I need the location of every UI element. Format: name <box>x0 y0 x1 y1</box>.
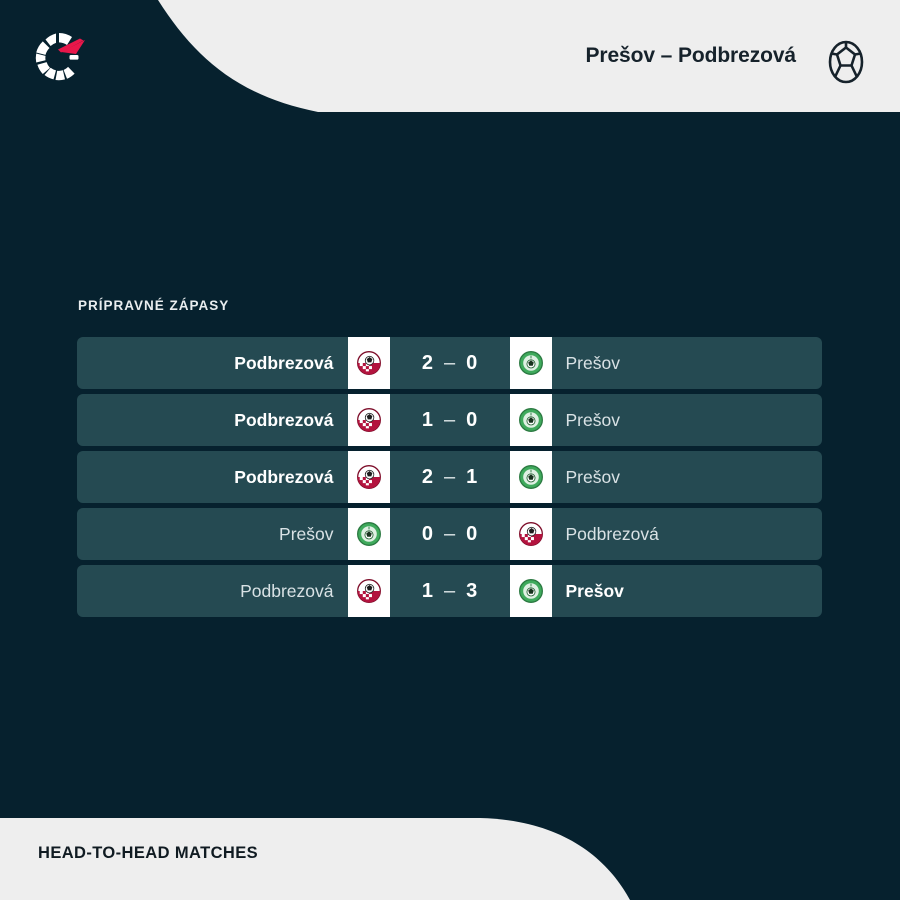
presov-crest-icon <box>348 508 390 560</box>
football-icon <box>822 38 870 86</box>
home-team-name: Podbrezová <box>77 451 348 503</box>
home-score: 0 <box>422 523 433 546</box>
away-team-name: Podbrezová <box>552 508 823 560</box>
page-title: Prešov – Podbrezová <box>585 44 796 68</box>
match-score: 2–0 <box>390 337 510 389</box>
away-score: 0 <box>466 352 477 375</box>
score-separator: – <box>444 409 455 432</box>
home-score: 1 <box>422 409 433 432</box>
away-score: 0 <box>466 523 477 546</box>
away-team-name: Prešov <box>552 565 823 617</box>
home-score: 2 <box>422 352 433 375</box>
podbrezova-crest-icon <box>348 337 390 389</box>
away-team-name: Prešov <box>552 451 823 503</box>
away-score: 1 <box>466 466 477 489</box>
head-to-head-match-list: Podbrezová2–0PrešovPodbrezová1–0PrešovPo… <box>77 337 822 622</box>
screenshot-root: Prešov – Podbrezová PRÍPRAVNÉ ZÁPASY Pod… <box>0 0 900 900</box>
presov-crest-icon <box>510 451 552 503</box>
match-score: 1–3 <box>390 565 510 617</box>
match-score: 1–0 <box>390 394 510 446</box>
away-team-name: Prešov <box>552 394 823 446</box>
away-score: 0 <box>466 409 477 432</box>
home-score: 1 <box>422 580 433 603</box>
footer-label: HEAD-TO-HEAD MATCHES <box>38 844 258 863</box>
section-label: PRÍPRAVNÉ ZÁPASY <box>78 298 229 313</box>
score-separator: – <box>444 352 455 375</box>
home-team-name: Prešov <box>77 508 348 560</box>
podbrezova-crest-icon <box>348 394 390 446</box>
presov-crest-icon <box>510 394 552 446</box>
score-separator: – <box>444 466 455 489</box>
home-score: 2 <box>422 466 433 489</box>
score-separator: – <box>444 580 455 603</box>
score-separator: – <box>444 523 455 546</box>
match-score: 0–0 <box>390 508 510 560</box>
away-score: 3 <box>466 580 477 603</box>
header-bar: Prešov – Podbrezová <box>0 0 900 122</box>
footer-bar: HEAD-TO-HEAD MATCHES <box>0 800 900 900</box>
podbrezova-crest-icon <box>510 508 552 560</box>
podbrezova-crest-icon <box>348 565 390 617</box>
away-team-name: Prešov <box>552 337 823 389</box>
home-team-name: Podbrezová <box>77 337 348 389</box>
match-row[interactable]: Podbrezová1–0Prešov <box>77 394 822 446</box>
flashscore-logo-icon[interactable] <box>28 26 90 88</box>
presov-crest-icon <box>510 337 552 389</box>
match-row[interactable]: Podbrezová2–1Prešov <box>77 451 822 503</box>
match-row[interactable]: Podbrezová2–0Prešov <box>77 337 822 389</box>
match-row[interactable]: Prešov0–0Podbrezová <box>77 508 822 560</box>
match-row[interactable]: Podbrezová1–3Prešov <box>77 565 822 617</box>
match-score: 2–1 <box>390 451 510 503</box>
home-team-name: Podbrezová <box>77 394 348 446</box>
home-team-name: Podbrezová <box>77 565 348 617</box>
podbrezova-crest-icon <box>348 451 390 503</box>
presov-crest-icon <box>510 565 552 617</box>
